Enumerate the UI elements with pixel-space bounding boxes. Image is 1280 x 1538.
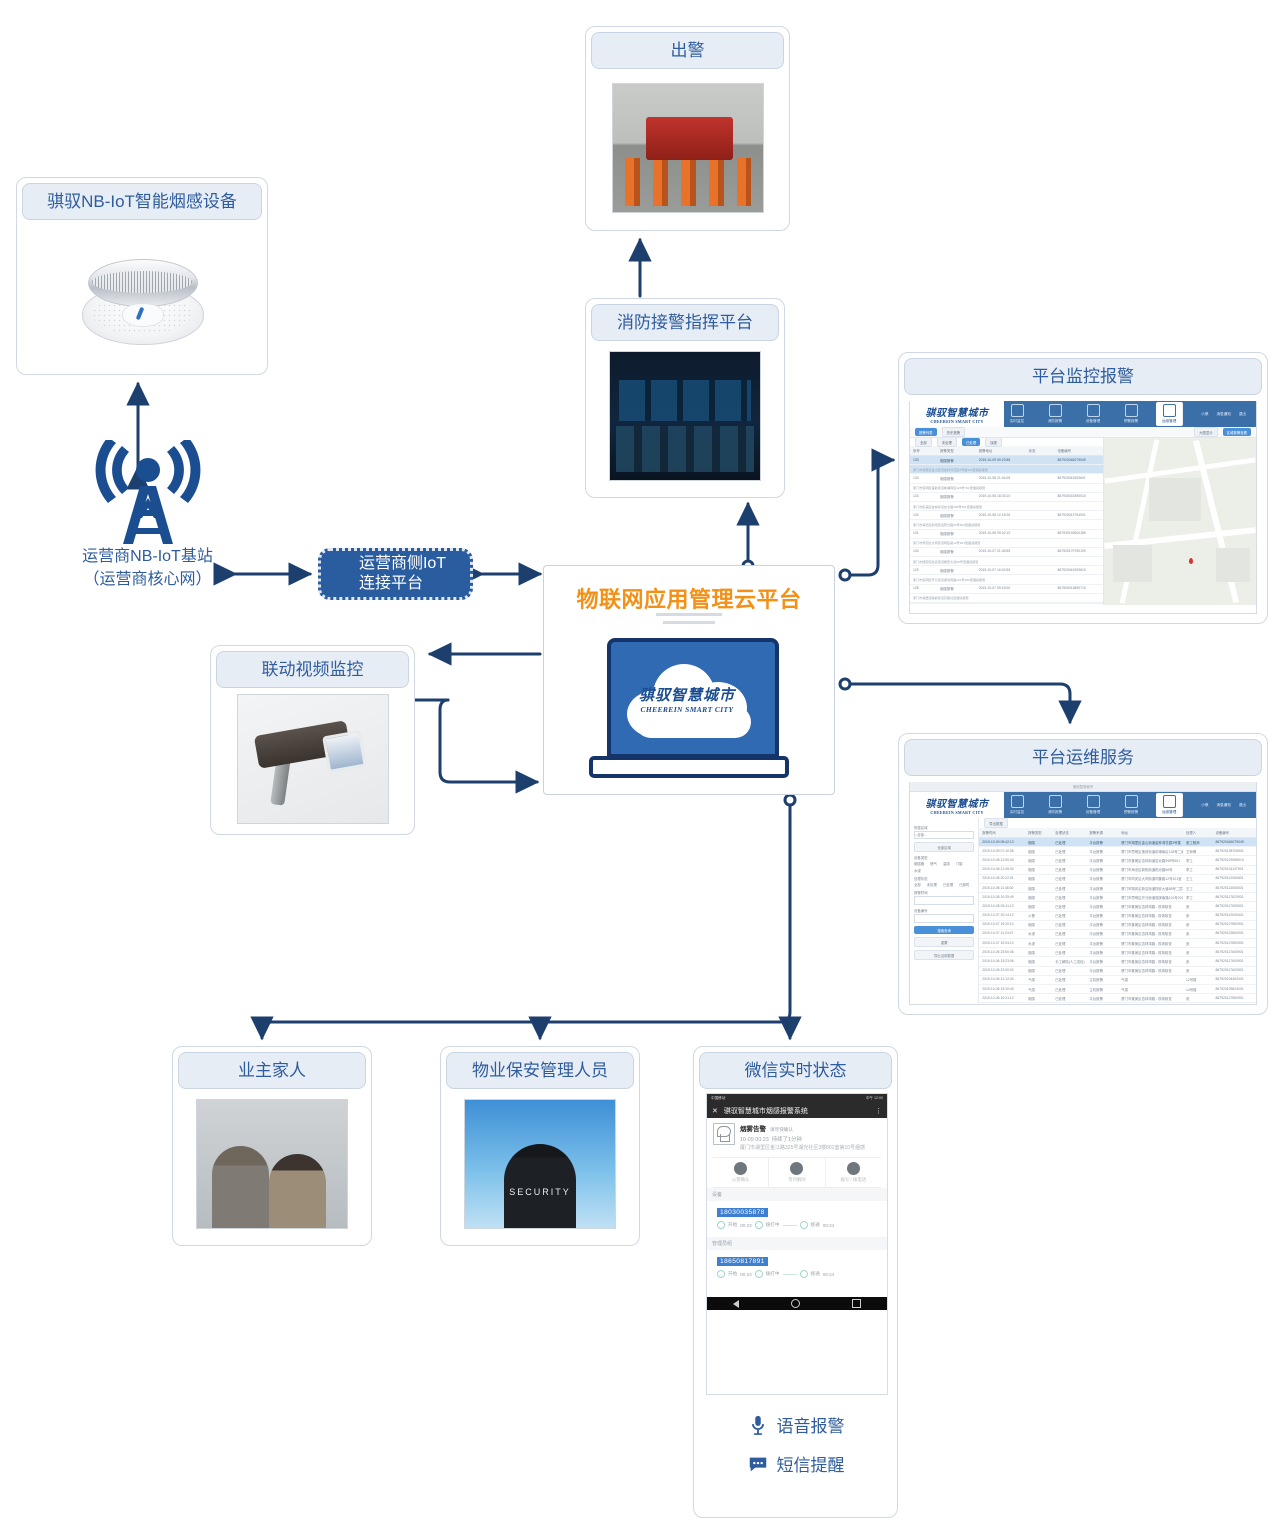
table-cell: 2019-10-07 16:02:55 xyxy=(976,566,1026,574)
browser-bar: 骐驭智慧城市 xyxy=(910,782,1256,792)
ops-filter-panel[interactable]: 所属区域 --全部-- 全部区域 设备类型 烟感器 燃气 温感 门磁 水浸 处理… xyxy=(910,818,979,1005)
table-cell: 12号楼 xyxy=(1183,976,1212,984)
table-row[interactable]: 2019-10-06 21:12:40气感已处理主机报警气感12号楼867920… xyxy=(979,976,1256,985)
table-row[interactable]: 133烟感报警2019-10-09 00:23:5886792004607904… xyxy=(910,456,1103,465)
ops-export-button[interactable]: 导出数据 xyxy=(984,818,1008,828)
table-cell: 烟感 xyxy=(1025,1003,1052,1005)
table-row[interactable]: 2019-10-09 07:10:56烟感已处理平台报警厦门市思明区莲前街道前埔… xyxy=(979,847,1256,856)
nav-item-warning[interactable]: 预警报警 xyxy=(1118,404,1144,424)
table-cell: 2019-10-08 12:18:26 xyxy=(976,511,1026,519)
node-base-station[interactable]: 运营商NB-IoT基站 （运营商核心网） xyxy=(40,440,255,610)
table-cell: 2019-10-08 11:48:30 xyxy=(979,884,1025,892)
toolbar-history[interactable]: 历史报警 xyxy=(942,427,966,437)
link-cloud-owner xyxy=(262,800,790,1038)
monitor-tabs[interactable]: 全部 未处理 已处理 误报 xyxy=(910,438,1103,446)
table-row[interactable]: 128烟感报警2019-10-07 09:15:0086790001389071… xyxy=(910,585,1103,594)
table-cell: 厦门市湖里区殿前街道高殿社区烟感报警 xyxy=(910,594,1103,602)
table-cell: 烟感报警 xyxy=(937,530,976,538)
table-cell: 2019-10-06 22:00:02 xyxy=(979,967,1025,975)
table-cell: 已处理 xyxy=(1052,985,1086,993)
node-smoke-device-body xyxy=(17,224,267,374)
laptop-icon: 骐驭智慧城市 CHEEREIN SMART CITY xyxy=(589,638,789,778)
table-row[interactable]: 2019-10-09 08:42:13烟感已处理平台报警厦门市湖里区金山街道金林… xyxy=(979,838,1256,847)
ops-table-head: 报警时间 报警类型 处理状态 报警来源 地址 处理人 设备编号 xyxy=(979,828,1256,838)
nav-user[interactable]: 小骐 xyxy=(1201,412,1208,417)
table-cell: 867920104402001 xyxy=(1212,976,1256,984)
node-owner-title: 业主家人 xyxy=(178,1052,366,1089)
table-cell: 128 xyxy=(910,585,937,593)
type-opt-1[interactable]: 燃气 xyxy=(930,861,937,866)
app-logo-en: CHEEREIN SMART CITY xyxy=(930,419,983,424)
table-cell: 867900013890710 xyxy=(1054,585,1102,593)
status-opt-1[interactable]: 未处理 xyxy=(927,882,937,887)
table-cell: 火警 xyxy=(1025,912,1052,920)
monitor-icon xyxy=(1011,404,1024,417)
map-marker-alarm[interactable] xyxy=(1189,558,1193,564)
alert-time: 10-09 00:23 xyxy=(740,1137,769,1143)
table-cell: 厦门市海沧区新阳街道阳光路66号603室烟感报警 xyxy=(910,520,1103,528)
junction-dot-bottom-bus xyxy=(785,795,795,805)
monitor-pager[interactable]: 1 共 213 条 当前 1 - 100 条，共 10 页 xyxy=(910,603,1103,605)
table-cell: 已处理 xyxy=(1052,948,1086,956)
alert-tag: 请尽快确认 xyxy=(770,1127,793,1133)
table-cell: 烟感 xyxy=(1025,921,1052,929)
filter-area-button[interactable]: 全部区域 xyxy=(914,842,974,852)
wechat-action-buttons[interactable]: 语音报警 短信提醒 xyxy=(706,1405,885,1483)
table-cell: 867920127800901 xyxy=(1212,994,1256,1002)
step-dot xyxy=(755,1221,763,1229)
table-cell: 867920041909601 xyxy=(1054,474,1102,482)
table-row-detail: 厦门市翔安区新店街道翔安大道88号室烟感报警 xyxy=(910,557,1103,566)
table-cell: 2019-10-08 18:33:10 xyxy=(976,493,1026,501)
table-cell: 张 xyxy=(1183,957,1212,965)
table-cell: 平台报警 xyxy=(1086,957,1118,965)
recents-icon[interactable] xyxy=(852,1299,861,1308)
table-cell: 2019-10-06 23:50:06 xyxy=(979,948,1025,956)
action-fire-confirm[interactable]: 火警确认 xyxy=(713,1158,769,1187)
warning-icon xyxy=(1125,795,1138,808)
table-cell: 867920041909610 xyxy=(1054,566,1102,574)
table-cell: 烟感 xyxy=(1025,957,1052,965)
table-cell: 已处理 xyxy=(1052,1003,1086,1005)
table-cell: 867920131137901 xyxy=(1212,866,1256,874)
ops-nav-ops[interactable]: 运维管理 xyxy=(1156,793,1183,817)
table-cell: 867920138705901 xyxy=(1212,847,1256,855)
sms-remind-button[interactable]: 短信提醒 xyxy=(706,1444,885,1483)
table-cell: 张 xyxy=(1183,930,1212,938)
table-row[interactable]: 2019-10-07 11:24:47水浸已处理平台报警厦门市集美区杏林湾路 -… xyxy=(979,930,1256,939)
nav-item-alarm[interactable]: 消防报警 xyxy=(1042,404,1068,424)
step-dot xyxy=(717,1270,725,1278)
table-cell: 厦门市同安区大同街道同集路12号201室烟感报警 xyxy=(910,539,1103,547)
node-dispatch[interactable]: 出警 xyxy=(585,26,790,231)
back-icon[interactable] xyxy=(733,1300,739,1308)
table-row[interactable]: 130烟感报警2019-10-07 21:45:5586792017979010… xyxy=(910,548,1103,557)
table-cell: 厦门市翔安区新店街道翔安大道88号室烟感报警 xyxy=(910,557,1103,565)
table-cell: 2019-10-08 21:49:30 xyxy=(979,866,1025,874)
table-cell: 烟感 xyxy=(1025,893,1052,901)
table-cell: 867920117600901 xyxy=(1212,948,1256,956)
table-row[interactable]: 2019-10-07 19:20:10烟感已处理平台报警厦门市集美区杏林湾路 -… xyxy=(979,921,1256,930)
table-row[interactable]: 2019-10-06 22:00:02烟感已处理平台报警厦门市集美区杏林湾路 -… xyxy=(979,967,1256,976)
table-cell: 厦门市集美区杏林湾路 - 现场核查 xyxy=(1118,994,1183,1002)
table-cell: 张工程师 xyxy=(1183,838,1212,846)
group-0-steps: 开始 00:23 拨打中 接通 00:24 xyxy=(713,1221,881,1229)
table-cell: 867920109624001 xyxy=(1212,985,1256,993)
type-opt-0[interactable]: 烟感器 xyxy=(914,861,924,866)
alarm-icon xyxy=(1049,404,1062,417)
table-row[interactable]: 2019-10-06 23:23:06烟感手工解除(人工巡检)平台报警厦门市集美… xyxy=(979,957,1256,966)
node-platform-ops[interactable]: 平台运维服务 骐驭智慧城市 骐驭智慧城市 CHEEREIN SMART CITY… xyxy=(898,733,1268,1015)
ops-nav-right[interactable]: 小骐 消息通知 退出 xyxy=(1195,803,1246,808)
type-opt-3[interactable]: 门磁 xyxy=(956,861,963,866)
table-cell: 厦门市集美区杏林街道杏北路998号501 xyxy=(1118,856,1183,864)
table-row[interactable]: 2019-10-06 19:10:40气感已处理主机报警气感14号楼867920… xyxy=(979,985,1256,994)
table-cell: 烟感 xyxy=(1025,884,1052,892)
table-cell: 厦门市同安区大同街道同集路12号201室 xyxy=(1118,875,1183,883)
link-cloud-monitor xyxy=(845,460,893,575)
table-cell: 平台报警 xyxy=(1086,930,1118,938)
node-operator-iot-platform[interactable]: 运营商侧IoT 连接平台 xyxy=(318,548,473,600)
table-cell: 867920179790109 xyxy=(1054,548,1102,556)
table-cell: 2019-10-07 11:24:47 xyxy=(979,930,1025,938)
table-cell: 2019-10-07 19:20:10 xyxy=(979,921,1025,929)
alert-duration: 持续了1分钟 xyxy=(772,1137,802,1143)
table-row-detail: 厦门市思明区开元街道湖滨南路101号202室烟感报警 xyxy=(910,575,1103,584)
cloud-platform-title: 物联网应用管理云平台 xyxy=(544,582,834,614)
node-video-title: 联动视频监控 xyxy=(216,651,409,688)
node-wechat-body: 中国移动 中午 12:00 ✕ 骐驭智慧城市烟感报警系统 ⋮ 烟雾告警 请尽快确 xyxy=(694,1093,897,1517)
filter-status-label: 处理状态 xyxy=(914,876,974,881)
table-cell: 烟感 xyxy=(1025,948,1052,956)
table-cell: 平台报警 xyxy=(1086,939,1118,947)
table-cell: 2019-10-08 10:29:49 xyxy=(979,893,1025,901)
table-cell: 已处理 xyxy=(1052,866,1086,874)
table-cell: 2019-10-06 21:12:40 xyxy=(979,976,1025,984)
table-cell: 气感 xyxy=(1118,976,1183,984)
toolbar-area-alarm[interactable]: 区域报警查看 xyxy=(1223,428,1251,436)
table-cell: 2019-10-08 09:22:10 xyxy=(976,530,1026,538)
table-cell: 867920046079049 xyxy=(1212,838,1256,846)
table-cell: 867920127800901 xyxy=(1212,921,1256,929)
architecture-diagram: 骐驭NB-IoT智能烟感设备 xyxy=(0,0,1280,1538)
node-dispatch-body xyxy=(586,73,789,230)
ops-table-toolbar[interactable]: 导出数据 xyxy=(979,818,1256,828)
table-cell: 平台报警 xyxy=(1086,967,1118,975)
alert-actions[interactable]: 火警确认 等待解除 拨号 / 拨电话 xyxy=(713,1157,881,1188)
status-carrier: 中国移动 xyxy=(711,1096,725,1101)
junction-dot-ops xyxy=(840,679,850,689)
ops-nav-notify[interactable]: 消息通知 xyxy=(1216,803,1230,808)
node-guard-body: SECURITY xyxy=(441,1091,639,1245)
app-menu[interactable]: 实时监控 消防报警 设备管理 预警报警 运维管理 小骐 消息通知 退出 xyxy=(1004,401,1256,427)
close-icon[interactable]: ✕ xyxy=(712,1107,718,1115)
firefighter-photo xyxy=(612,83,764,213)
table-cell: 平台报警 xyxy=(1086,838,1118,846)
link-video-cloud-lower xyxy=(440,700,537,782)
ops-navbar: 骐驭智慧城市 CHEEREIN SMART CITY 实时监控 消防报警 设备管… xyxy=(910,792,1256,818)
table-cell: 133 xyxy=(910,493,937,501)
table-cell: 李工 xyxy=(1183,866,1212,874)
type-opt-4[interactable]: 水浸 xyxy=(914,868,921,873)
table-row[interactable]: 2019-10-06 10:21:12烟感已处理平台报警厦门市集美区杏林湾路 -… xyxy=(979,994,1256,1003)
table-row[interactable]: 2019-10-08 21:49:30烟感已处理平台报警厦门市海沧区新阳街道阳光… xyxy=(979,866,1256,875)
table-cell: 131 xyxy=(910,530,937,538)
table-cell: 已处理 xyxy=(1052,994,1086,1002)
table-cell: 烟感 xyxy=(1025,847,1052,855)
cctv-camera-photo xyxy=(237,694,389,824)
table-row[interactable]: 2019-10-08 11:48:30烟感已处理平台报警厦门市翔安区新店街道翔安… xyxy=(979,884,1256,893)
device-icon xyxy=(1087,795,1100,808)
filter-sn-input[interactable] xyxy=(914,914,974,923)
node-fire-command-body xyxy=(586,343,784,497)
table-cell: 2019-10-06 23:23:06 xyxy=(979,957,1025,965)
filter-time-input[interactable] xyxy=(914,896,974,905)
table-row[interactable]: 2019-10-08 20:22:01烟感已处理平台报警厦门市同安区大同街道同集… xyxy=(979,875,1256,884)
ops-table-body[interactable]: 2019-10-09 08:42:13烟感已处理平台报警厦门市湖里区金山街道金林… xyxy=(979,838,1256,1005)
table-row-detail: 厦门市湖里区金山街道金林湾花园3号楼302室烟感报警 xyxy=(910,465,1103,474)
table-cell: 867920013794901 xyxy=(1054,511,1102,519)
filter-search-button[interactable]: 搜索查询 xyxy=(914,926,974,934)
status-clock: 中午 12:00 xyxy=(866,1096,883,1101)
table-cell: 王工 xyxy=(1183,875,1212,883)
table-cell: 厦门市集美区杏林湾路 - 现场核查 xyxy=(1118,930,1183,938)
table-cell: 烟感 xyxy=(1025,866,1052,874)
table-cell xyxy=(1026,530,1055,538)
node-smoke-device[interactable]: 骐驭NB-IoT智能烟感设备 xyxy=(16,177,268,375)
table-cell: 14号楼 xyxy=(1183,985,1212,993)
table-row[interactable]: 2019-10-08 09:41:13烟感已处理平台报警厦门市集美区杏林湾路 -… xyxy=(979,902,1256,911)
table-cell: 已处理 xyxy=(1052,893,1086,901)
smoke-detector-icon xyxy=(78,251,206,347)
voice-alarm-label: 语音报警 xyxy=(777,1412,845,1437)
node-wechat-title: 微信实时状态 xyxy=(699,1052,892,1089)
ops-nav-logout[interactable]: 退出 xyxy=(1239,803,1246,808)
table-cell: 已处理 xyxy=(1052,921,1086,929)
table-row[interactable]: 2019-10-08 21:50:40烟感已处理平台报警厦门市集美区杏林街道杏北… xyxy=(979,856,1256,865)
node-cloud-platform[interactable]: 物联网应用管理云平台 骐驭智慧城市 CHEEREIN SMART CITY xyxy=(543,565,835,795)
ops-app-logo: 骐驭智慧城市 CHEEREIN SMART CITY xyxy=(910,792,1004,818)
app-nav-right[interactable]: 小骐 消息通知 退出 xyxy=(1195,412,1246,417)
filter-type-radios[interactable]: 烟感器 燃气 温感 门磁 水浸 xyxy=(914,861,974,873)
table-cell: 已处理 xyxy=(1052,976,1086,984)
ops-app-menu[interactable]: 实时监控 消防报警 设备管理 预警报警 运维管理 小骐 消息通知 退出 xyxy=(1004,792,1256,818)
table-cell: 已处理 xyxy=(1052,884,1086,892)
iot-platform-line1: 运营商侧IoT xyxy=(359,554,446,574)
ops-nav-device[interactable]: 设备管理 xyxy=(1080,795,1106,815)
monitor-app-screenshot[interactable]: 骐驭智慧城市 CHEEREIN SMART CITY 实时监控 消防报警 设备管… xyxy=(909,401,1257,614)
table-cell: 2019-10-09 07:10:56 xyxy=(979,847,1025,855)
action-wait-clear[interactable]: 等待解除 xyxy=(769,1158,825,1187)
table-cell: 李工 xyxy=(1183,893,1212,901)
flame-icon xyxy=(734,1162,747,1175)
ops-nav-user[interactable]: 小骐 xyxy=(1201,803,1208,808)
table-row[interactable]: 132烟感报警2019-10-08 12:18:2686792001379490… xyxy=(910,511,1103,520)
table-cell: 张 xyxy=(1183,967,1212,975)
ops-nav-monitor[interactable]: 实时监控 xyxy=(1004,795,1030,815)
group-1-phone[interactable]: 18650817891 xyxy=(717,1257,768,1266)
table-cell: 烟感报警 xyxy=(937,548,976,556)
guard-uniform-text: SECURITY xyxy=(465,1187,615,1197)
node-platform-ops-title: 平台运维服务 xyxy=(904,739,1262,776)
table-cell: 厦门市思明区开元街道湖滨南路101号202室 xyxy=(1118,893,1183,901)
table-cell: 平台报警 xyxy=(1086,856,1118,864)
status-opt-0[interactable]: 全部 xyxy=(914,882,921,887)
nav-notify[interactable]: 消息通知 xyxy=(1216,412,1230,417)
node-owner-family[interactable]: 业主家人 xyxy=(172,1046,372,1246)
monitor-icon xyxy=(1011,795,1024,808)
table-cell: 2019-10-06 10:21:12 xyxy=(979,994,1025,1002)
table-cell: 132 xyxy=(910,511,937,519)
tab-handled[interactable]: 已处理 xyxy=(962,438,980,446)
table-cell xyxy=(1026,511,1055,519)
voice-alarm-button[interactable]: 语音报警 xyxy=(706,1405,885,1444)
table-cell: 烟感报警 xyxy=(937,493,976,501)
table-row[interactable]: 133烟感报警2019-10-08 18:33:1086794001539001… xyxy=(910,493,1103,502)
table-cell: 867920046079049 xyxy=(1054,456,1102,464)
table-cell: 867920127800901 xyxy=(1212,939,1256,947)
ops-app-screenshot[interactable]: 骐驭智慧城市 骐驭智慧城市 CHEEREIN SMART CITY 实时监控 消… xyxy=(909,782,1257,1005)
nav-item-device[interactable]: 设备管理 xyxy=(1080,404,1106,424)
monitor-table[interactable]: 全部 未处理 已处理 误报 序号 报警类型 报警地址 状态 设备编号 13 xyxy=(910,438,1103,605)
table-cell: 2019-10-07 09:15:00 xyxy=(976,585,1026,593)
table-cell: 867920117600901 xyxy=(1212,957,1256,965)
filter-time-label: 报警时间 xyxy=(914,890,974,895)
group-0-phone[interactable]: 18030035878 xyxy=(717,1208,768,1217)
nav-item-monitor[interactable]: 实时监控 xyxy=(1004,404,1030,424)
ops-nav-warning[interactable]: 预警报警 xyxy=(1118,795,1144,815)
node-guard-title: 物业保安管理人员 xyxy=(446,1052,634,1089)
table-cell xyxy=(1026,566,1055,574)
toolbar-alarm-list[interactable]: 报警列表 xyxy=(915,428,937,436)
table-cell: 厦门市翔安区新店街道翔安大道88号二层 xyxy=(1118,884,1183,892)
action-call[interactable]: 拨号 / 拨电话 xyxy=(826,1158,881,1187)
table-cell: 867920122800901 xyxy=(1212,930,1256,938)
filter-type-label: 设备类型 xyxy=(914,855,974,860)
table-row-detail: 厦门市海沧区新阳街道阳光路66号603室烟感报警 xyxy=(910,520,1103,529)
nav-item-ops[interactable]: 运维管理 xyxy=(1156,402,1183,426)
toolbar-bigmap[interactable]: 大图显示 xyxy=(1194,427,1218,437)
node-property-guard[interactable]: 物业保安管理人员 SECURITY xyxy=(440,1046,640,1246)
node-wechat-status[interactable]: 微信实时状态 中国移动 中午 12:00 ✕ 骐驭智慧城市烟感报警系统 ⋮ xyxy=(693,1046,898,1518)
step-dot xyxy=(755,1270,763,1278)
table-cell: 张 xyxy=(1183,921,1212,929)
table-cell: 平台报警 xyxy=(1086,847,1118,855)
table-cell: 867920129096010 xyxy=(1212,856,1256,864)
cloud-brand-cn: 骐驭智慧城市 xyxy=(631,684,743,705)
table-row[interactable]: 2019-10-06 23:50:06烟感已处理平台报警厦门市集美区杏林湾路 -… xyxy=(979,948,1256,957)
node-fire-command-title: 消防接警指挥平台 xyxy=(591,304,779,341)
phone-nav-bar[interactable] xyxy=(707,1297,887,1310)
table-cell xyxy=(1026,474,1055,482)
junction-dot-monitor xyxy=(840,570,850,580)
table-cell: 厦门市集美区杏林湾路 - 现场核查 xyxy=(1118,948,1183,956)
table-cell: 867920113505001 xyxy=(1212,884,1256,892)
table-row[interactable]: 2019-10-07 10:04:10水浸已处理平台报警厦门市集美区杏林湾路 -… xyxy=(979,939,1256,948)
monitor-table-head: 序号 报警类型 报警地址 状态 设备编号 xyxy=(910,446,1103,456)
table-cell: 平台报警 xyxy=(1086,875,1118,883)
table-cell: 2019-10-07 10:04:10 xyxy=(979,939,1025,947)
table-cell: 130 xyxy=(910,548,937,556)
node-platform-monitor[interactable]: 平台监控报警 骐驭智慧城市 CHEEREIN SMART CITY 实时监控 消… xyxy=(898,352,1268,624)
filter-export-button[interactable]: 导出当前数据 xyxy=(914,950,974,960)
wechat-app-title: 骐驭智慧城市烟感报警系统 xyxy=(724,1106,869,1116)
table-cell: 867940015390010 xyxy=(1054,493,1102,501)
type-opt-2[interactable]: 温感 xyxy=(943,861,950,866)
filter-reset-button[interactable]: 重置 xyxy=(914,937,974,947)
table-row[interactable]: 2019-10-06 11:22:17烟感已处理平台报警厦门市集美区杏林湾路 -… xyxy=(979,1003,1256,1005)
cloud-brand: 骐驭智慧城市 CHEEREIN SMART CITY xyxy=(631,684,743,714)
table-cell: 已处理 xyxy=(1052,967,1086,975)
title-underline-2 xyxy=(663,621,715,624)
node-smoke-device-title: 骐驭NB-IoT智能烟感设备 xyxy=(22,183,262,220)
table-row[interactable]: 134烟感报警2019-10-08 21:04:0586792004190960… xyxy=(910,474,1103,483)
table-cell: 平台报警 xyxy=(1086,893,1118,901)
wechat-app-bar[interactable]: ✕ 骐驭智慧城市烟感报警系统 ⋮ xyxy=(707,1103,887,1118)
table-cell: 867920112060601 xyxy=(1212,875,1256,883)
table-row[interactable]: 129烟感报警2019-10-07 16:02:5586792004190961… xyxy=(910,566,1103,575)
table-row[interactable]: 131烟感报警2019-10-08 09:22:1086793019260018… xyxy=(910,530,1103,539)
table-cell: 平台报警 xyxy=(1086,884,1118,892)
guard-photo: SECURITY xyxy=(464,1099,616,1229)
table-cell: 烟感报警 xyxy=(937,566,976,574)
ops-nav-alarm[interactable]: 消防报警 xyxy=(1042,795,1068,815)
sms-remind-label: 短信提醒 xyxy=(777,1451,845,1476)
table-cell: 王工 xyxy=(1183,884,1212,892)
table-row-detail: 厦门市思明区莲前街道前埔南区128号702室烟感报警 xyxy=(910,484,1103,493)
ops-logo-en: CHEEREIN SMART CITY xyxy=(930,810,983,815)
monitor-map[interactable] xyxy=(1103,438,1256,605)
node-fire-command[interactable]: 消防接警指挥平台 xyxy=(585,298,785,498)
filter-status-radios[interactable]: 全部 未处理 已处理 已超时 xyxy=(914,882,974,887)
home-icon[interactable] xyxy=(791,1299,800,1308)
filter-area-select[interactable]: --全部-- xyxy=(914,831,974,839)
nav-logout[interactable]: 退出 xyxy=(1239,412,1246,417)
link-cloud-ops xyxy=(845,684,1070,722)
node-video-surveillance[interactable]: 联动视频监控 xyxy=(210,645,415,835)
table-cell xyxy=(1026,585,1055,593)
alert-block: 烟雾告警 请尽快确认 10-09 00:23 持续了1分钟 厦门市湖里区金江路3… xyxy=(713,1123,881,1152)
table-cell: 厦门市集美区杏林湾路 - 现场核查 xyxy=(1118,957,1183,965)
table-cell: 已处理 xyxy=(1052,875,1086,883)
table-row[interactable]: 2019-10-08 10:29:49烟感已处理平台报警厦门市思明区开元街道湖滨… xyxy=(979,893,1256,902)
status-opt-2[interactable]: 已处理 xyxy=(943,882,953,887)
table-cell: 2019-10-07 21:45:55 xyxy=(976,548,1026,556)
table-row[interactable]: 2019-10-07 20:14:12火警已处理平台报警厦门市集美区杏林湾路 -… xyxy=(979,912,1256,921)
monitor-toolbar[interactable]: 报警列表 历史报警 大图显示 区域报警查看 xyxy=(910,427,1256,438)
more-vertical-icon[interactable]: ⋮ xyxy=(875,1107,882,1115)
ops-table-area[interactable]: 导出数据 报警时间 报警类型 处理状态 报警来源 地址 处理人 设备编号 201… xyxy=(979,818,1256,1005)
cloud-brand-en: CHEEREIN SMART CITY xyxy=(631,705,743,714)
sms-bubble-icon xyxy=(747,1453,769,1475)
table-row-detail: 厦门市同安区大同街道同集路12号201室烟感报警 xyxy=(910,539,1103,548)
status-opt-3[interactable]: 已超时 xyxy=(959,882,969,887)
table-cell: 王师傅 xyxy=(1183,847,1212,855)
group-0-section: 设备 xyxy=(707,1188,887,1201)
microphone-icon xyxy=(747,1414,769,1436)
table-cell: 烟感 xyxy=(1025,967,1052,975)
filter-sn-label: 设备编号 xyxy=(914,908,974,913)
node-platform-monitor-title: 平台监控报警 xyxy=(904,358,1262,395)
alert-title: 烟雾告警 xyxy=(740,1123,766,1133)
node-owner-body xyxy=(173,1091,371,1245)
table-cell: 2019-10-06 19:10:40 xyxy=(979,985,1025,993)
table-cell: 已处理 xyxy=(1052,939,1086,947)
table-cell: 烟感 xyxy=(1025,856,1052,864)
phone-mockup[interactable]: 中国移动 中午 12:00 ✕ 骐驭智慧城市烟感报警系统 ⋮ 烟雾告警 请尽快确 xyxy=(706,1093,888,1395)
monitor-table-body[interactable]: 133烟感报警2019-10-09 00:23:5886792004607904… xyxy=(910,456,1103,603)
node-base-station-label: 运营商NB-IoT基站 （运营商核心网） xyxy=(40,545,255,591)
